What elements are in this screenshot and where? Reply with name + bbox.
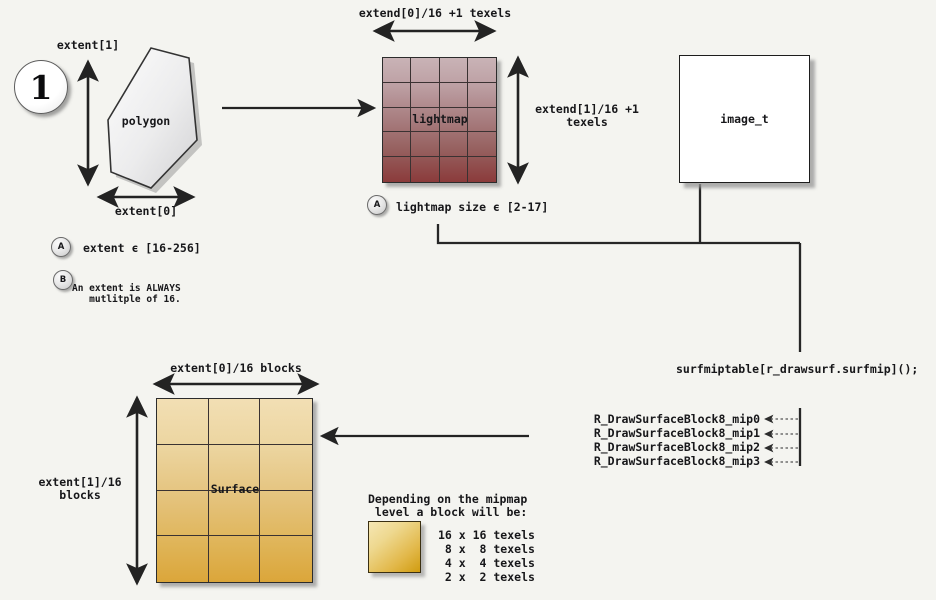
lightmap-cell (468, 157, 496, 182)
lightmap-note-marker: A (367, 195, 387, 215)
mipmap-legend-heading: Depending on the mipmap level a block wi… (368, 493, 527, 519)
lightmap-cell (440, 132, 468, 157)
note-a-text: extent ϵ [16-256] (83, 242, 201, 255)
mipmap-size-3: 2 x 2 texels (438, 571, 535, 584)
mip-function-3: R_DrawSurfaceBlock8_mip3 (420, 455, 760, 468)
lightmap-height-label: extend[1]/16 +1 texels (528, 103, 646, 129)
lightmap-cell (383, 132, 411, 157)
lightmap-cell (468, 132, 496, 157)
lightmap-cell (383, 83, 411, 108)
surface-height-label: extent[1]/16 blocks (22, 476, 138, 502)
surface-cell (209, 399, 261, 445)
diagram-canvas: 1 extent[1] extent[0] polygon extend[0]/… (0, 0, 936, 600)
step-number-label: 1 (30, 71, 53, 104)
lightmap-cell (411, 58, 439, 83)
image-t-box: image_t (679, 55, 810, 183)
lightmap-label: lightmap (398, 113, 482, 126)
surface-cell (260, 491, 312, 537)
surface-label: Surface (178, 483, 292, 496)
mip-function-2: R_DrawSurfaceBlock8_mip2 (420, 441, 760, 454)
surface-cell (209, 491, 261, 537)
lightmap-cell (411, 157, 439, 182)
surface-cell (157, 491, 209, 537)
note-a-marker-label: A (58, 242, 65, 252)
lightmap-cell (468, 58, 496, 83)
lightmap-cell (440, 157, 468, 182)
surface-width-label: extent[0]/16 blocks (156, 362, 316, 375)
polygon-extent0-label: extent[0] (96, 205, 196, 218)
mipmap-size-0: 16 x 16 texels (438, 529, 535, 542)
mipmap-size-1: 8 x 8 texels (438, 543, 535, 556)
note-a-marker: A (51, 237, 71, 257)
lightmap-bus-connector (438, 224, 800, 243)
mip-function-0: R_DrawSurfaceBlock8_mip0 (420, 413, 760, 426)
step-number-badge: 1 (14, 60, 68, 114)
note-b-marker: B (53, 270, 73, 290)
lightmap-note-text: lightmap size ϵ [2-17] (396, 201, 548, 214)
lightmap-cell (411, 132, 439, 157)
surface-cell (157, 536, 209, 582)
surface-cell (157, 399, 209, 445)
polygon-label: polygon (98, 115, 194, 128)
note-b-marker-label: B (60, 275, 66, 285)
lightmap-cell (440, 58, 468, 83)
mip-function-1: R_DrawSurfaceBlock8_mip1 (420, 427, 760, 440)
image-t-label: image_t (720, 113, 768, 126)
mipmap-size-2: 4 x 4 texels (438, 557, 535, 570)
mipmap-block-swatch (368, 521, 421, 573)
lightmap-cell (411, 83, 439, 108)
lightmap-cell (383, 157, 411, 182)
note-b-text: An extent is ALWAYS mutlitple of 16. (72, 283, 181, 305)
lightmap-cell (383, 58, 411, 83)
surface-cell (260, 536, 312, 582)
lightmap-width-label: extend[0]/16 +1 texels (355, 7, 515, 20)
surface-cell (209, 536, 261, 582)
lightmap-cell (440, 83, 468, 108)
lightmap-note-marker-label: A (374, 200, 381, 210)
polygon-extent1-label: extent[1] (38, 39, 138, 52)
surfmiptable-call-label: surfmiptable[r_drawsurf.surfmip](); (676, 363, 918, 376)
lightmap-cell (468, 83, 496, 108)
surface-cell (260, 399, 312, 445)
